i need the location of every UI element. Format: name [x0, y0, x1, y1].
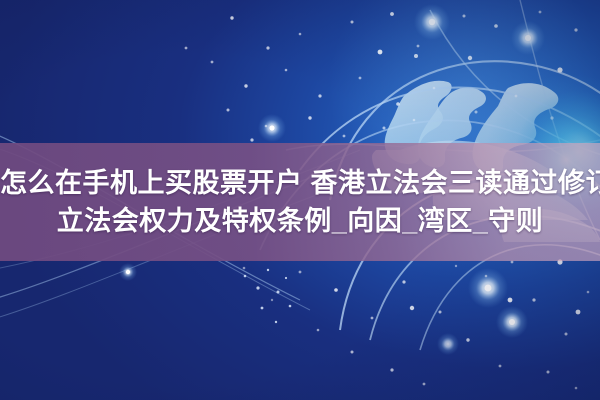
headline-line-1: 怎么在手机上买股票开户 香港立法会三读通过修订	[0, 165, 600, 201]
headline-line-2: 立法会权力及特权条例_向因_湾区_守则	[0, 203, 600, 239]
banner-graphic: 怎么在手机上买股票开户 香港立法会三读通过修订 立法会权力及特权条例_向因_湾区…	[0, 0, 600, 400]
headline-container: 怎么在手机上买股票开户 香港立法会三读通过修订 立法会权力及特权条例_向因_湾区…	[0, 143, 600, 261]
